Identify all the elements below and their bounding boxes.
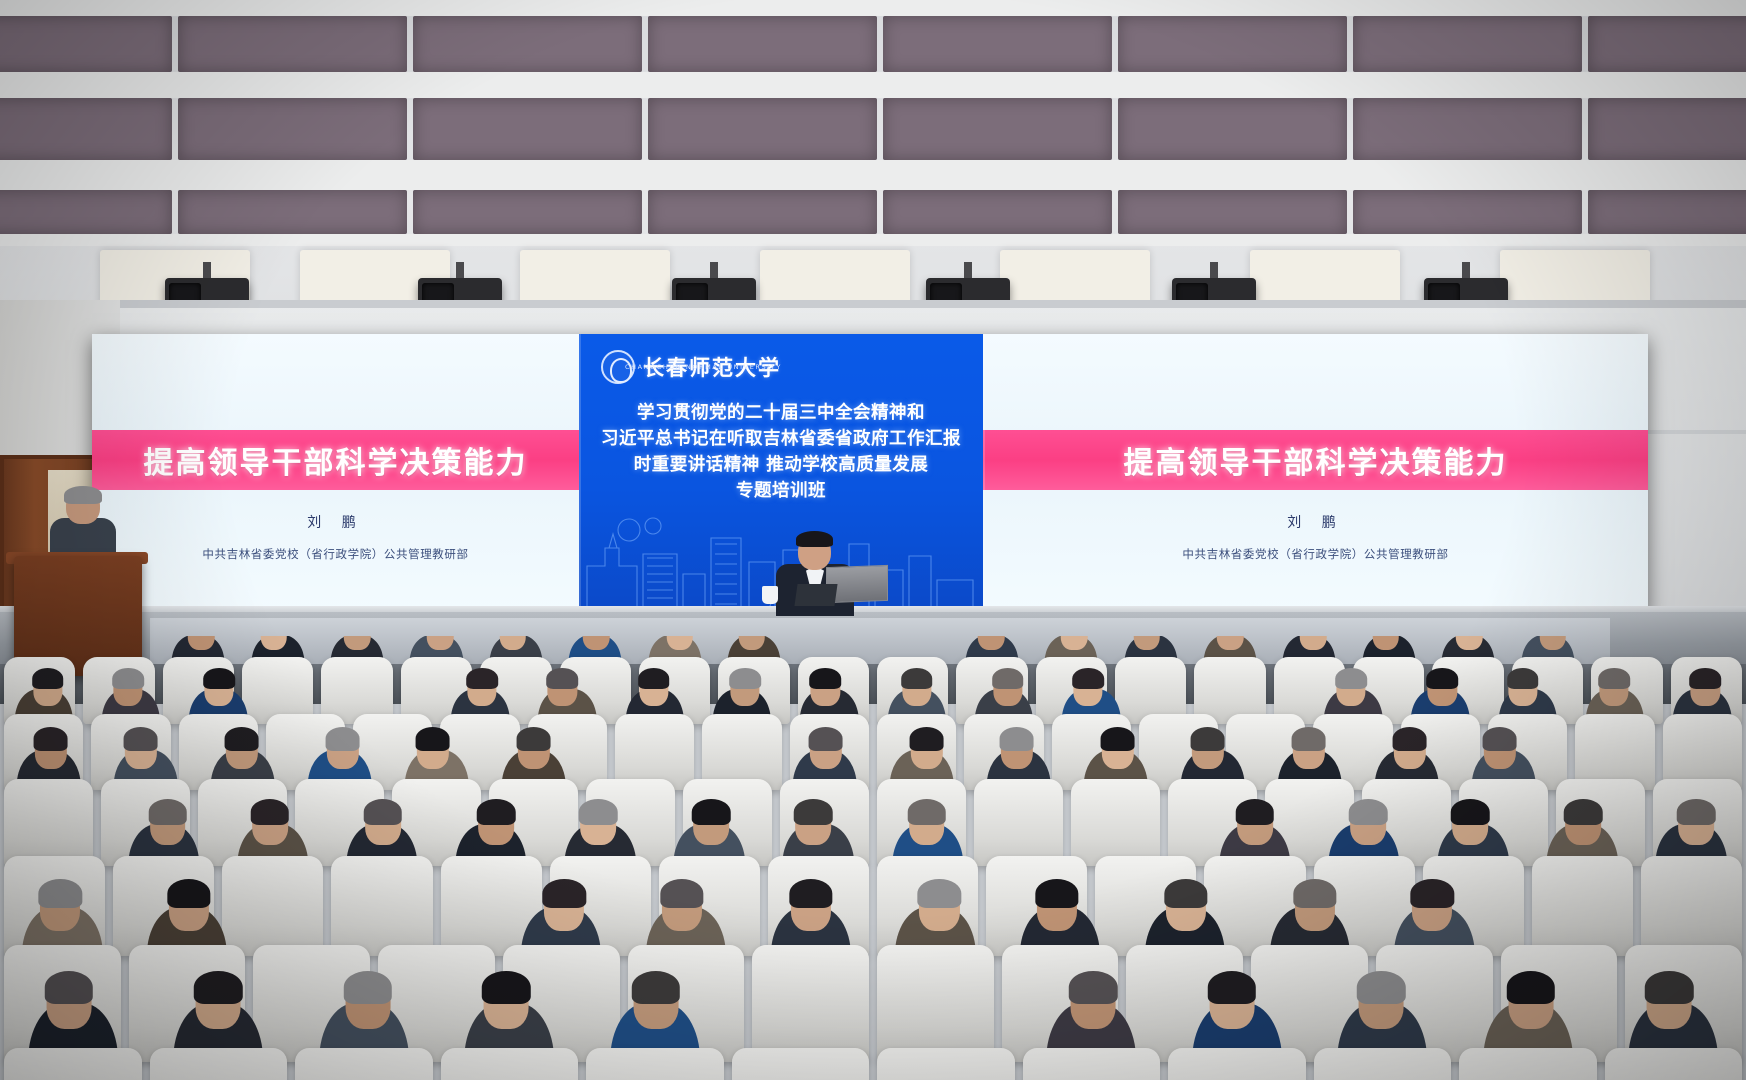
ceiling-coffer xyxy=(0,190,172,234)
ceiling-coffer xyxy=(413,98,642,160)
audience-person-hair xyxy=(194,971,242,1004)
audience-person-hair xyxy=(692,799,731,825)
audience-seat xyxy=(441,1048,579,1080)
audience-person-hair xyxy=(1291,727,1326,751)
ceiling-coffer xyxy=(178,16,407,72)
audience-person-hair xyxy=(547,668,579,689)
audience-person-hair xyxy=(123,727,158,751)
audience-person-hair xyxy=(660,879,703,908)
ceiling-coffer xyxy=(1588,98,1746,160)
audience-seat xyxy=(1459,1048,1597,1080)
ceiling-coffer xyxy=(883,98,1112,160)
audience-person-hair xyxy=(992,668,1024,689)
title-line-1: 学习贯彻党的二十届三中全会精神和 xyxy=(579,400,983,426)
audience-area xyxy=(0,636,1746,1080)
ceiling-coffer xyxy=(883,16,1112,72)
ceiling-coffer xyxy=(413,16,642,72)
audience-person-hair xyxy=(148,799,187,825)
audience-person-hair xyxy=(808,727,843,751)
audience-person-hair xyxy=(224,727,259,751)
audience-person-hair xyxy=(579,799,618,825)
ceiling-coffer xyxy=(413,190,642,234)
audience-seat xyxy=(732,1048,870,1080)
slide-right: 提高领导干部科学决策能力 刘 鹏 中共吉林省委党校（省行政学院）公共管理教研部 xyxy=(983,334,1648,614)
slide-left-presenter-name: 刘 鹏 xyxy=(92,512,579,532)
ceiling-coffer xyxy=(1118,190,1347,234)
screen-panel-right: 提高领导干部科学决策能力 刘 鹏 中共吉林省委党校（省行政学院）公共管理教研部 xyxy=(983,334,1648,614)
audience-person-hair xyxy=(1482,727,1517,751)
laptop xyxy=(794,584,837,606)
audience-person-hair xyxy=(789,879,832,908)
ceiling-coffer xyxy=(648,98,877,160)
audience-person-hair xyxy=(112,668,144,689)
ceiling-coffer xyxy=(1353,190,1582,234)
ceiling-coffer xyxy=(883,190,1112,234)
audience-person-hair xyxy=(33,727,68,751)
audience-person-hair xyxy=(1100,727,1135,751)
audience-person-hair xyxy=(45,971,93,1004)
title-line-2: 习近平总书记在听取吉林省委省政府工作汇报 xyxy=(579,426,983,452)
audience-seat xyxy=(586,1048,724,1080)
audience-person-hair xyxy=(325,727,360,751)
audience-person-hair xyxy=(1208,971,1256,1004)
ceiling-coffer xyxy=(178,98,407,160)
audience-person-hair xyxy=(1411,879,1454,908)
audience-seat xyxy=(150,1048,288,1080)
audience-person-hair xyxy=(1190,727,1225,751)
ceiling-coffer xyxy=(1353,98,1582,160)
audience-person-hair xyxy=(466,668,498,689)
slide-left-title: 提高领导干部科学决策能力 xyxy=(92,430,579,490)
audience-person-hair xyxy=(516,727,551,751)
audience-person-hair xyxy=(999,727,1034,751)
audience-person-hair xyxy=(901,668,933,689)
title-line-3: 时重要讲话精神 推动学校高质量发展 xyxy=(579,452,983,478)
audience-person-hair xyxy=(1677,799,1716,825)
audience-person-hair xyxy=(477,799,516,825)
university-name-en: CHANGCHUN NORMAL UNIVERSITY xyxy=(625,363,782,371)
audience-person-hair xyxy=(638,668,670,689)
audience-person-hair xyxy=(1598,668,1630,689)
audience-seat xyxy=(1168,1048,1306,1080)
audience-person-hair xyxy=(1293,879,1336,908)
audience-person-hair xyxy=(32,668,64,689)
audience-person-hair xyxy=(1069,971,1117,1004)
ceiling-coffer xyxy=(0,98,172,160)
title-line-4: 专题培训班 xyxy=(579,478,983,504)
audience-person-hair xyxy=(1357,971,1405,1004)
audience-seat-row xyxy=(0,1008,1746,1080)
water-cup xyxy=(762,586,778,604)
ceiling-coffer xyxy=(1118,98,1347,160)
audience-person-hair xyxy=(415,727,450,751)
slide-left-affiliation: 中共吉林省委党校（省行政学院）公共管理教研部 xyxy=(92,546,579,562)
ceiling-coffer xyxy=(0,16,172,72)
slide-left: 提高领导干部科学决策能力 刘 鹏 中共吉林省委党校（省行政学院）公共管理教研部 xyxy=(92,334,579,614)
audience-person-hair xyxy=(251,799,290,825)
audience-seat xyxy=(295,1048,433,1080)
ceiling-coffer xyxy=(648,16,877,72)
audience-person-hair xyxy=(907,799,946,825)
audience-person-hair xyxy=(203,668,235,689)
audience-person-hair xyxy=(1392,727,1427,751)
ceiling-coffer xyxy=(178,190,407,234)
conference-hall-photo: 提高领导干部科学决策能力 刘 鹏 中共吉林省委党校（省行政学院）公共管理教研部 … xyxy=(0,0,1746,1080)
audience-person-hair xyxy=(1349,799,1388,825)
speaker-hair xyxy=(64,486,102,504)
audience-person-hair xyxy=(543,879,586,908)
audience-seat xyxy=(1314,1048,1452,1080)
slide-right-title: 提高领导干部科学决策能力 xyxy=(983,430,1648,490)
audience-person-hair xyxy=(1035,879,1078,908)
audience-person-hair xyxy=(1451,799,1490,825)
audience-person-hair xyxy=(918,879,961,908)
audience-person-hair xyxy=(482,971,530,1004)
audience-person-hair xyxy=(1164,879,1207,908)
slide-right-affiliation: 中共吉林省委党校（省行政学院）公共管理教研部 xyxy=(983,546,1648,562)
audience-person-hair xyxy=(1645,971,1693,1004)
audience-person-hair xyxy=(1564,799,1603,825)
audience-person-hair xyxy=(1427,668,1459,689)
audience-seat xyxy=(4,1048,142,1080)
audience-person-hair xyxy=(1072,668,1104,689)
audience-person-hair xyxy=(1507,971,1555,1004)
audience-person-hair xyxy=(1335,668,1367,689)
ceiling-coffer xyxy=(1588,16,1746,72)
audience-person-hair xyxy=(810,668,842,689)
audience-person-hair xyxy=(364,799,403,825)
ceiling-coffer xyxy=(1588,190,1746,234)
ceiling-coffer xyxy=(1118,16,1347,72)
audience-person-hair xyxy=(1689,668,1721,689)
audience-person-hair xyxy=(39,879,82,908)
slide-right-presenter-name: 刘 鹏 xyxy=(983,512,1648,532)
audience-seat xyxy=(1023,1048,1161,1080)
screen-panel-left: 提高领导干部科学决策能力 刘 鹏 中共吉林省委党校（省行政学院）公共管理教研部 xyxy=(92,334,579,614)
audience-person-hair xyxy=(167,879,210,908)
audience-person-hair xyxy=(909,727,944,751)
audience-person-hair xyxy=(632,971,680,1004)
audience-seat xyxy=(877,1048,1015,1080)
audience-person-hair xyxy=(344,971,392,1004)
presenter-hair xyxy=(796,531,833,547)
slide-center-title: 学习贯彻党的二十届三中全会精神和 习近平总书记在听取吉林省委省政府工作汇报 时重… xyxy=(579,400,983,504)
audience-person-hair xyxy=(794,799,833,825)
ceiling-coffer xyxy=(1353,16,1582,72)
audience-person-hair xyxy=(1507,668,1539,689)
audience-person-hair xyxy=(729,668,761,689)
audience-seat xyxy=(1605,1048,1743,1080)
audience-person-hair xyxy=(1236,799,1275,825)
ceiling-coffer xyxy=(648,190,877,234)
